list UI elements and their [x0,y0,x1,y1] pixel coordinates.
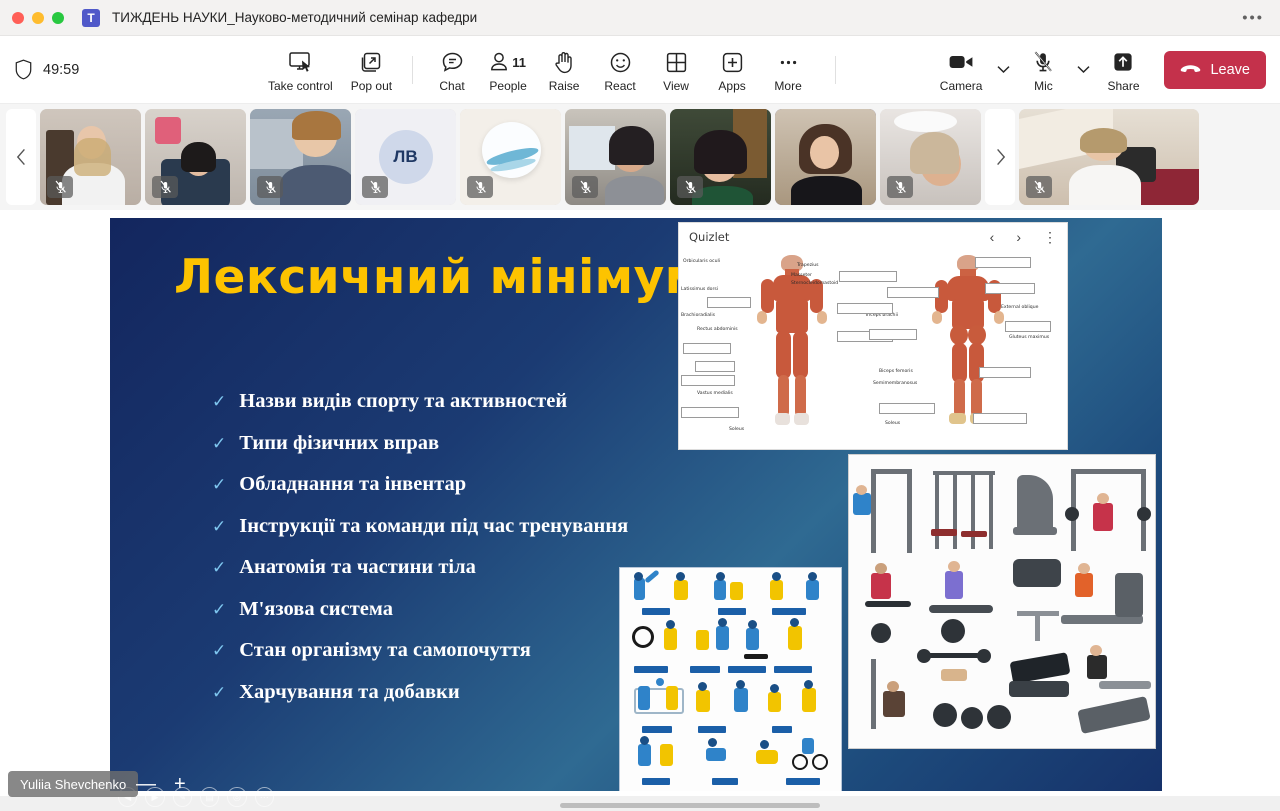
share-up-arrow-icon [1112,49,1134,76]
shield-icon [14,59,33,80]
participant-tile[interactable] [40,109,141,205]
participant-tile-logo[interactable] [460,109,561,205]
people-button[interactable]: 11 People [481,42,535,98]
mic-muted-icon [1033,180,1046,194]
participant-tile-active-speaker[interactable] [775,109,876,205]
more-label: More [774,79,801,93]
mic-muted-icon [1032,49,1054,76]
muscle-label: External oblique [1001,305,1038,310]
slide-title: Лексичний мінімум [174,250,704,305]
check-icon: ✓ [212,476,226,493]
mic-muted-icon [264,180,277,194]
sport-label-tag [772,608,806,615]
sports-pictograms-image [619,567,842,791]
mute-badge [1026,176,1052,198]
muscle-label: Biceps femoris [879,369,913,374]
answer-blank[interactable] [681,407,739,418]
share-label: Share [1107,79,1139,93]
bullet-text: Харчування та добавки [239,681,459,704]
muscle-label: Masseter [791,273,812,278]
chat-icon [441,49,464,76]
list-item: ✓ Інструкції та команди під час тренуван… [212,515,812,557]
take-control-label: Take control [268,79,333,93]
hangup-phone-icon [1180,64,1201,76]
mute-badge [362,176,388,198]
participant-tile[interactable] [880,109,981,205]
answer-blank[interactable] [839,271,897,282]
view-button[interactable]: View [649,42,703,98]
camera-label: Camera [940,79,983,93]
sport-label-tag [774,666,812,673]
meeting-timer: 49:59 [43,62,79,78]
react-label: React [604,79,635,93]
mute-badge [47,176,73,198]
sport-label-tag [786,778,820,785]
check-icon: ✓ [212,393,226,410]
react-button[interactable]: React [593,42,647,98]
muscle-label: Gluteus maximus [1009,335,1049,340]
quizlet-diagram: Orbicularis oculi Masseter Sternocleidom… [679,251,1067,450]
quizlet-nav: ‹ › ⋮ [990,223,1057,251]
zoom-in-button[interactable]: + [174,774,186,794]
filmstrip-next-button[interactable] [985,109,1015,205]
answer-blank[interactable] [707,297,751,308]
mic-muted-icon [54,180,67,194]
answer-blank[interactable] [879,403,935,414]
chevron-right-icon [995,148,1006,166]
chat-label: Chat [439,79,464,93]
mute-badge [467,176,493,198]
horizontal-scrollbar[interactable] [560,803,820,808]
sport-label-tag [690,666,720,673]
chat-button[interactable]: Chat [425,42,479,98]
window-more-icon[interactable]: ••• [1242,10,1264,25]
check-icon: ✓ [212,435,226,452]
zoom-out-button[interactable]: — [136,774,156,794]
muscle-label: Brachioradialis [681,313,715,318]
mute-badge [257,176,283,198]
mic-label: Mic [1034,79,1053,93]
camera-icon [948,49,975,76]
muscle-label: Orbicularis oculi [683,259,720,264]
quizlet-menu-icon[interactable]: ⋮ [1043,229,1057,246]
muscle-label: Vastus medialis [697,391,733,396]
pop-out-icon [360,49,382,76]
muscle-label: Soleus [729,427,744,432]
pop-out-label: Pop out [351,79,392,93]
mute-badge [887,176,913,198]
react-emoji-icon [609,49,632,76]
mic-button[interactable]: Mic [1016,42,1070,98]
answer-blank[interactable] [681,375,735,386]
leave-label: Leave [1210,62,1250,78]
window-title: ТИЖДЕНЬ НАУКИ_Науково-методичний семінар… [112,10,477,25]
magnifier-icon[interactable]: ◎ [227,787,246,807]
teams-logo-icon [82,9,100,27]
avatar-initials: ЛВ [379,130,433,184]
sport-label-tag [634,666,668,673]
camera-button[interactable]: Camera [932,42,991,98]
sport-label-tag [772,726,792,733]
participant-tile[interactable] [250,109,351,205]
muscle-label: Soleus [885,421,900,426]
more-options-icon[interactable]: ⋯ [255,787,274,807]
sport-label-tag [712,778,738,785]
mic-chevron-down-icon[interactable] [1072,50,1094,90]
window-traffic-lights[interactable] [12,12,64,24]
check-icon: ✓ [212,642,226,659]
quizlet-next-button[interactable]: › [1016,229,1021,245]
raise-label: Raise [549,79,580,93]
sport-label-tag [642,726,672,733]
mic-muted-icon [369,180,382,194]
camera-chevron-down-icon[interactable] [992,50,1014,90]
close-window-button[interactable] [12,12,24,24]
toolbar-center-group: Take control Pop out [230,42,932,98]
mic-muted-icon [474,180,487,194]
quizlet-title: Quizlet [689,230,729,244]
share-button[interactable]: Share [1096,42,1150,98]
apps-plus-icon [721,49,744,76]
quizlet-prev-button[interactable]: ‹ [990,229,995,245]
check-icon: ✓ [212,559,226,576]
toolbar-left-group: 49:59 [0,59,230,80]
answer-blank[interactable] [1005,321,1051,332]
raise-hand-button[interactable]: Raise [537,42,591,98]
apps-button[interactable]: Apps [705,42,759,98]
answer-blank[interactable] [887,287,939,298]
title-bar: ТИЖДЕНЬ НАУКИ_Науково-методичний семінар… [0,0,1280,36]
bullet-text: М'язова система [239,598,393,621]
quizlet-card: Quizlet ‹ › ⋮ [678,222,1068,450]
more-ellipsis-icon [777,49,800,76]
presenter-name-chip: Yuliia Shevchenko [8,771,138,797]
answer-blank[interactable] [683,343,731,354]
bullet-text: Назви видів спорту та активностей [239,390,567,413]
answer-blank[interactable] [837,303,893,314]
mic-muted-icon [894,180,907,194]
answer-blank[interactable] [985,283,1035,294]
answer-blank[interactable] [869,329,917,340]
bullet-text: Типи фізичних вправ [239,432,439,455]
mic-muted-icon [684,180,697,194]
view-grid-icon [665,49,688,76]
muscle-label: Sternocleidomastoid [791,281,838,286]
answer-blank[interactable] [979,367,1031,378]
zoom-controls: — + [136,771,186,797]
check-icon: ✓ [212,518,226,535]
muscle-label: Latissimus dorsi [681,287,718,292]
participant-filmstrip: ЛВ [0,104,1280,210]
list-item: ✓ Обладнання та інвентар [212,473,812,515]
minimize-window-button[interactable] [32,12,44,24]
toolbar-divider-2 [835,56,836,84]
sport-label-tag [698,726,726,733]
participant-tile-avatar[interactable]: ЛВ [355,109,456,205]
mute-badge [677,176,703,198]
filmstrip-prev-button[interactable] [6,109,36,205]
mic-muted-icon [159,180,172,194]
participant-tile[interactable] [670,109,771,205]
bullet-text: Обладнання та інвентар [239,473,466,496]
answer-blank[interactable] [975,257,1031,268]
mute-badge [152,176,178,198]
mic-muted-icon [579,180,592,194]
gym-equipment-image [848,454,1156,749]
toolbar-divider [412,56,413,84]
bullet-text: Анатомія та частини тіла [239,556,476,579]
people-icon: 11 [490,49,526,76]
more-button[interactable]: More [761,42,815,98]
answer-blank[interactable] [695,361,735,372]
muscle-label: Trapezius [797,263,819,268]
maximize-window-button[interactable] [52,12,64,24]
teams-meeting-window: ТИЖДЕНЬ НАУКИ_Науково-методичний семінар… [0,0,1280,811]
view-label: View [663,79,689,93]
pop-out-button[interactable]: Pop out [343,42,400,98]
people-count: 11 [512,55,526,70]
participant-tile[interactable] [565,109,666,205]
presentation-slide[interactable]: Лексичний мінімум ✓ Назви видів спорту т… [110,218,1162,791]
sport-label-tag [642,778,670,785]
people-label: People [489,79,526,93]
shared-content-stage: Лексичний мінімум ✓ Назви видів спорту т… [0,216,1280,796]
muscle-label: Rectus abdominis [697,327,738,332]
sport-label-tag [728,666,766,673]
bullet-text: Стан організму та самопочуття [239,639,531,662]
chevron-left-icon [16,148,27,166]
sport-label-tag [642,608,670,615]
check-icon: ✓ [212,684,226,701]
muscle-label: Semimembranosus [873,381,917,386]
quizlet-header: Quizlet ‹ › ⋮ [679,223,1067,251]
raise-hand-icon [554,49,574,76]
layout-icon[interactable]: ▤ [200,787,219,807]
mute-badge [572,176,598,198]
participant-tile[interactable] [145,109,246,205]
take-control-icon [288,49,313,76]
take-control-button[interactable]: Take control [260,42,341,98]
answer-blank[interactable] [973,413,1027,424]
check-icon: ✓ [212,601,226,618]
meeting-toolbar: 49:59 Take control [0,36,1280,104]
toolbar-right-group: Camera Mic [932,42,1280,98]
bullet-text: Інструкції та команди під час тренування [239,515,628,538]
apps-label: Apps [718,79,745,93]
sport-label-tag [718,608,746,615]
leave-button[interactable]: Leave [1164,51,1266,89]
participant-tile[interactable] [1019,109,1199,205]
